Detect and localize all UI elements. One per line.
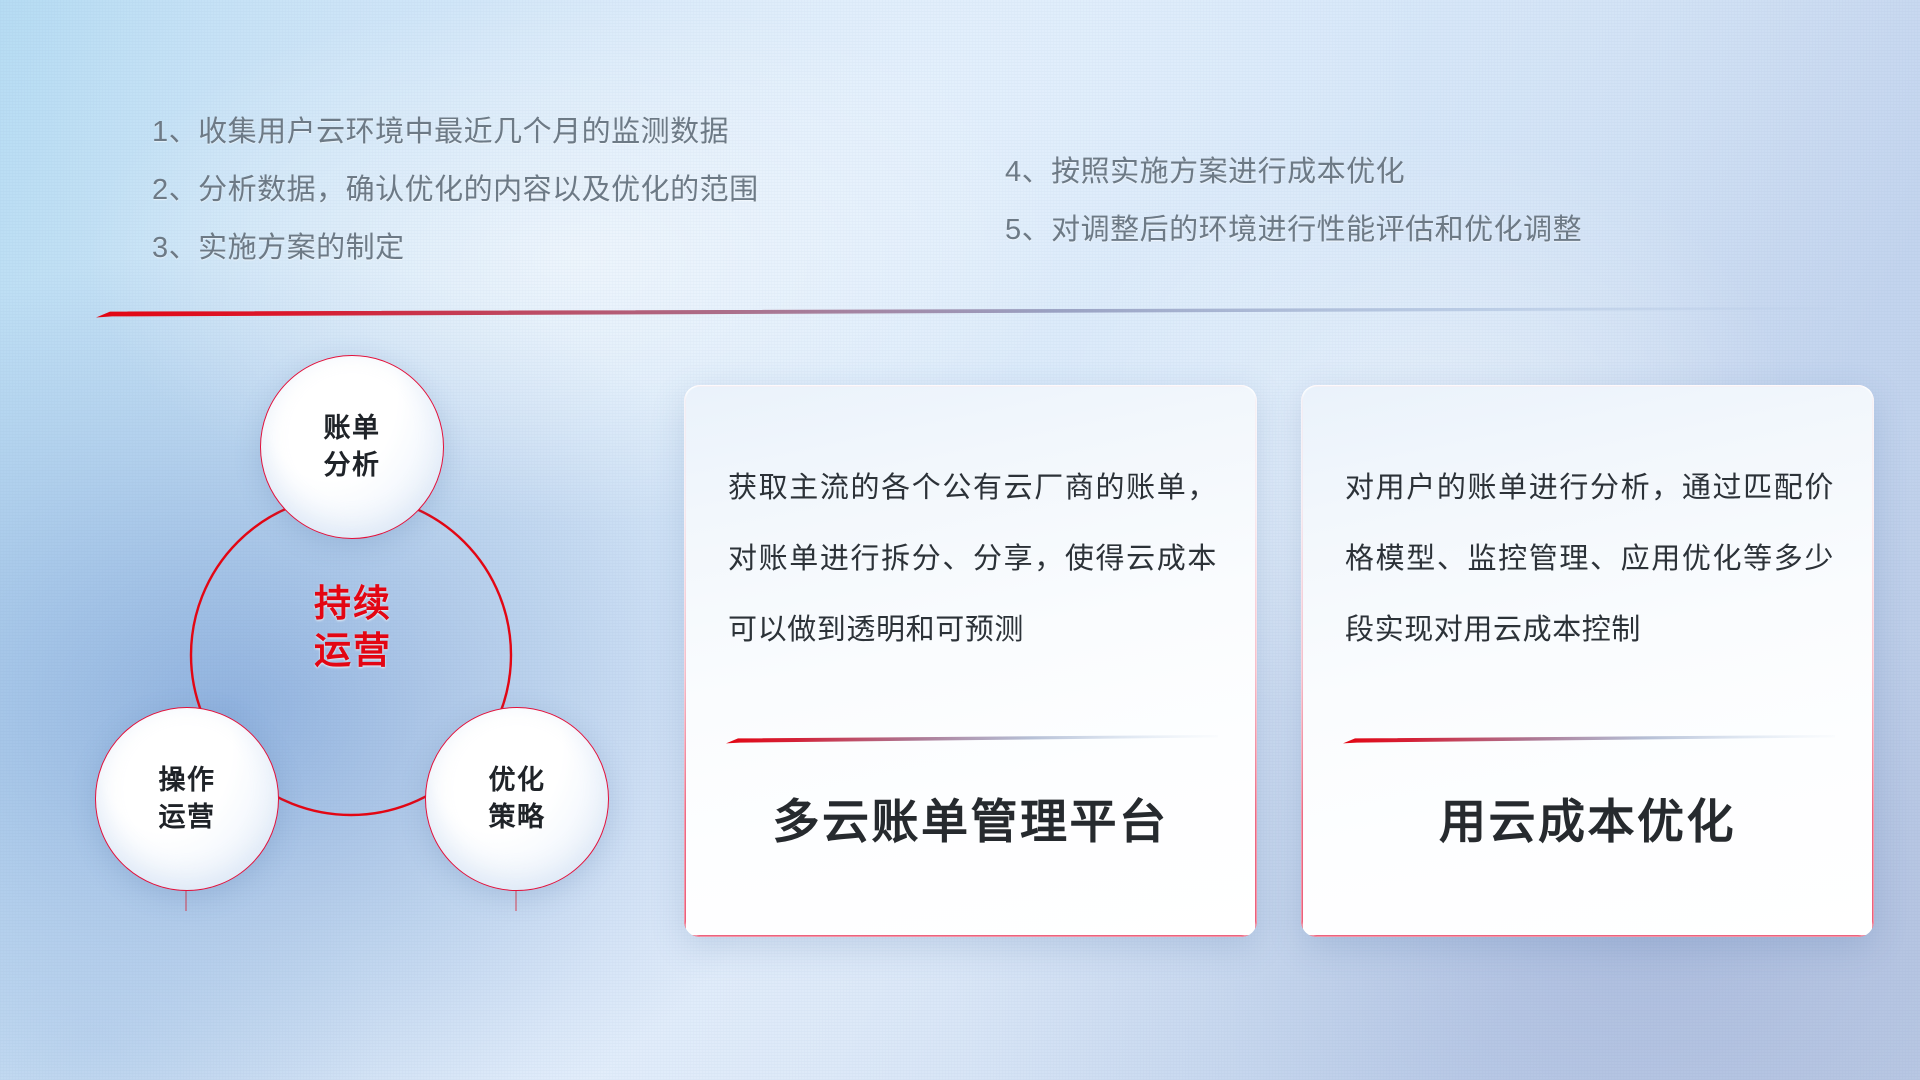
card-title: 用云成本优化 xyxy=(1301,783,1874,852)
venn-diagram: 账单 分析 操作 运营 优化 策略 持续 运营 xyxy=(95,355,655,955)
step-item: 2、分析数据，确认优化的内容以及优化的范围 xyxy=(152,176,759,205)
card-divider-line xyxy=(1343,735,1835,744)
step-text: 按照实施方案进行成本优化 xyxy=(1051,156,1405,188)
venn-center-label-line2: 运营 xyxy=(263,627,443,674)
card-title: 多云账单管理平台 xyxy=(684,783,1257,852)
step-item: 5、对调整后的环境进行性能评估和优化调整 xyxy=(1005,216,1582,245)
venn-bubble-label-line1: 操作 xyxy=(159,762,216,799)
venn-bubble-operation[interactable]: 操作 运营 xyxy=(95,707,279,891)
card-divider-line xyxy=(726,735,1218,744)
card-body-text: 对用户的账单进行分析，通过匹配价格模型、监控管理、应用优化等多少段实现对用云成本… xyxy=(1345,453,1834,666)
step-text: 实施方案的制定 xyxy=(198,232,405,264)
card-body-text: 获取主流的各个公有云厂商的账单，对账单进行拆分、分享，使得云成本可以做到透明和可… xyxy=(728,453,1217,666)
step-number: 5、 xyxy=(1005,214,1051,246)
venn-bubble-bill-analysis[interactable]: 账单 分析 xyxy=(260,355,444,539)
step-text: 分析数据，确认优化的内容以及优化的范围 xyxy=(198,174,759,206)
step-number: 3、 xyxy=(152,232,198,264)
venn-bubble-label-line1: 账单 xyxy=(324,410,381,447)
steps-region: 1、收集用户云环境中最近几个月的监测数据 2、分析数据，确认优化的内容以及优化的… xyxy=(0,0,1920,300)
steps-column-right: 4、按照实施方案进行成本优化 5、对调整后的环境进行性能评估和优化调整 xyxy=(1005,158,1582,274)
venn-center-label-line1: 持续 xyxy=(263,580,443,627)
step-item: 1、收集用户云环境中最近几个月的监测数据 xyxy=(152,118,759,147)
step-number: 1、 xyxy=(152,116,198,148)
step-number: 4、 xyxy=(1005,156,1051,188)
step-text: 对调整后的环境进行性能评估和优化调整 xyxy=(1051,214,1582,246)
feature-card-multi-cloud-billing-platform[interactable]: 获取主流的各个公有云厂商的账单，对账单进行拆分、分享，使得云成本可以做到透明和可… xyxy=(684,385,1257,937)
venn-bubble-label-line2: 分析 xyxy=(324,447,381,484)
venn-bubble-label-line2: 策略 xyxy=(489,799,546,836)
step-item: 4、按照实施方案进行成本优化 xyxy=(1005,158,1582,187)
venn-bubble-optimization-strategy[interactable]: 优化 策略 xyxy=(425,707,609,891)
venn-center-label: 持续 运营 xyxy=(263,580,443,675)
steps-column-left: 1、收集用户云环境中最近几个月的监测数据 2、分析数据，确认优化的内容以及优化的… xyxy=(152,118,759,292)
step-text: 收集用户云环境中最近几个月的监测数据 xyxy=(198,116,729,148)
venn-bubble-label-line2: 运营 xyxy=(159,799,216,836)
venn-bubble-label-line1: 优化 xyxy=(489,762,546,799)
step-item: 3、实施方案的制定 xyxy=(152,234,759,263)
step-number: 2、 xyxy=(152,174,198,206)
feature-card-cloud-cost-optimization[interactable]: 对用户的账单进行分析，通过匹配价格模型、监控管理、应用优化等多少段实现对用云成本… xyxy=(1301,385,1874,937)
